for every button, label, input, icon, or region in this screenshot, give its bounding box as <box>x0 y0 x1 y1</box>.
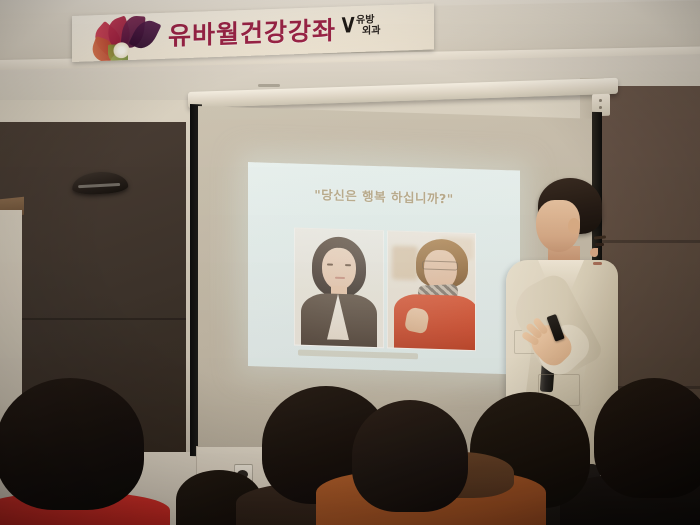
ceiling-slot-icon <box>258 84 280 87</box>
audience-member-5 <box>594 378 700 498</box>
slide-portrait-right <box>387 230 477 351</box>
audience-member-1 <box>0 378 144 510</box>
speaker-slit <box>78 183 120 188</box>
slide-caption-line <box>298 350 418 360</box>
slide-photo-pair <box>294 227 476 351</box>
slide-portrait-left <box>294 227 384 348</box>
logo-line-2: 외과 <box>362 26 380 37</box>
presenter-ear <box>568 218 580 234</box>
check-icon: V <box>342 15 355 36</box>
audience-member-3 <box>352 400 468 512</box>
lecture-hall-photo: 유바월건강강좌 V 유방 외과 "당신은 행복 하십니까?" <box>0 0 700 525</box>
banner-headline: 유바월건강강좌 <box>168 11 336 53</box>
logo-line-1: 유방 <box>356 15 374 26</box>
